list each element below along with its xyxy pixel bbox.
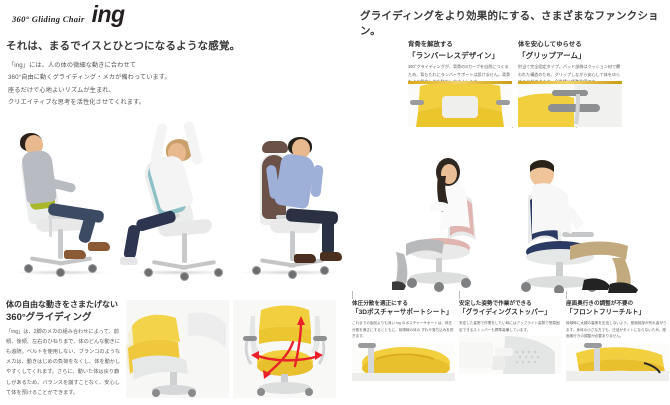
grip-arm-line2: 「グリップアーム」 xyxy=(518,50,622,61)
chair-caster xyxy=(252,266,261,275)
person-shoe xyxy=(120,257,138,265)
front-free-tilt-art xyxy=(566,343,669,381)
posture-seat-line2: 「3Dボスチャーサポートシート」 xyxy=(352,308,455,318)
hero-people-photo xyxy=(0,118,348,293)
function-lumbarless-design: 背骨を解放する 「ランバーレスデザイン」 360°グライディングが、背骨のSカー… xyxy=(408,40,512,86)
lumbarless-backrest-art xyxy=(408,84,512,127)
left-lead-headline: それは、まるでイスとひとつになるような感覚。 xyxy=(6,38,326,53)
catalog-page: 360° Gliding Chair ing それは、まるでイスとひとつになるよ… xyxy=(0,0,670,405)
gliding-stopper-body: 安定した姿勢で作業をしたい時にはアップライト姿勢で簡易固定できるストッパーも標準… xyxy=(459,320,562,333)
gliding-feature-line1: 体の自由な動きをさまたげない xyxy=(6,299,124,311)
gliding-photo-group xyxy=(126,300,336,398)
function-gliding-stopper: 安定した姿勢で作業ができる 「グライディングストッパー」 安定した姿勢で作業をし… xyxy=(459,300,562,381)
person-shoe xyxy=(88,242,110,251)
person-brown-chair xyxy=(236,113,348,281)
brand-prefix: 360° Gliding Chair xyxy=(12,14,85,24)
right-panel: グライディングをより効果的にする、さまざまなファンクション。 背骨を解放する 「… xyxy=(352,0,670,405)
man-navy-chair-art xyxy=(512,128,670,293)
brand-name: ing xyxy=(92,4,125,25)
bottom-function-row: 体圧分散を適正にする 「3Dボスチャーサポートシート」 これまでの製品よりも深い… xyxy=(352,300,670,381)
gliding-feature-body: 「ing」は、2脚のメカの組み合わせによって、前傾、後傾、左右のひねりまで、体の… xyxy=(6,327,124,398)
chair-caster xyxy=(214,268,223,277)
posture-support-seat-photo xyxy=(352,343,455,381)
left-panel: 360° Gliding Chair ing それは、まるでイスとひとつになるよ… xyxy=(0,0,348,405)
posture-seat-line1: 体圧分散を適正にする xyxy=(352,300,455,308)
left-intro-body: 「ing」には、人の体の微細な動きに合わせて 360°自由に動くグライディング・… xyxy=(8,60,238,110)
person-shin xyxy=(322,219,334,255)
chair-arm-post xyxy=(49,217,52,237)
chair-gas-post xyxy=(182,233,187,263)
brand-lockup: 360° Gliding Chair ing xyxy=(12,4,125,25)
posture-seat-art xyxy=(352,343,455,381)
grip-arm-line1: 体を安心してゆらせる xyxy=(518,40,622,50)
gliding-feature-line2: 360°グライディング xyxy=(6,311,124,324)
function-grip-arm: 体を安心してゆらせる 「グリップアーム」 肘当て完全固定タイプ。パッド部側はクッ… xyxy=(518,40,622,86)
chair-caster xyxy=(88,264,97,273)
right-section-heading: グライディングをより効果的にする、さまざまなファンクション。 xyxy=(360,8,666,38)
person-green-chair xyxy=(8,121,118,281)
front-free-tilt-line1: 座面奥行きの調整が不要の xyxy=(566,300,669,308)
gliding-direction-arrows-photo xyxy=(233,300,336,398)
front-free-tilt-photo xyxy=(566,343,669,381)
person-shoe xyxy=(294,254,316,263)
woman-seated-pink-chair-photo xyxy=(390,128,512,293)
woman-pink-chair-art xyxy=(390,128,512,293)
chair-caster xyxy=(56,268,65,277)
gliding-motion-sequence-photo xyxy=(126,300,229,398)
lumbarless-line1: 背骨を解放する xyxy=(408,40,512,50)
front-free-tilt-body: 後傾時に太腿の裏側を圧迫しないよう、座面前部が折れ曲がります。身体の小さな方でも… xyxy=(566,320,669,339)
chair-gas-post xyxy=(58,229,63,259)
gliding-stopper-line2: 「グライディングストッパー」 xyxy=(459,308,562,318)
chair-caster xyxy=(180,272,189,281)
front-free-tilt-line2: 「フロントフリーチルト」 xyxy=(566,308,669,318)
lumbarless-line2: 「ランバーレスデザイン」 xyxy=(408,50,512,61)
lumbarless-backrest-detail-photo xyxy=(408,84,512,127)
chair-headrest xyxy=(262,141,288,153)
function-3d-posture-support-seat: 体圧分散を適正にする 「3Dボスチャーサポートシート」 これまでの製品よりも深い… xyxy=(352,300,455,381)
grip-arm-detail-photo xyxy=(518,84,622,127)
gliding-stopper-tick xyxy=(459,291,460,299)
chair-caster xyxy=(288,270,297,279)
posture-seat-body: これまでの製品よりも深い ing のポスチャーサポートは、体圧分散を適正にすると… xyxy=(352,320,455,339)
person-shoe xyxy=(64,250,86,259)
chair-caster xyxy=(320,266,329,275)
person-teal-chair xyxy=(118,109,238,281)
chair-caster xyxy=(144,268,153,277)
person-shoe xyxy=(320,252,342,261)
motion-sequence-illustration xyxy=(126,300,229,398)
gliding-stopper-art xyxy=(459,336,562,374)
gliding-feature-caption: 体の自由な動きをさまたげない 360°グライディング 「ing」は、2脚のメカの… xyxy=(6,299,124,398)
front-free-tilt-tick xyxy=(566,291,567,299)
gliding-stopper-line1: 安定した姿勢で作業ができる xyxy=(459,300,562,308)
man-seated-navy-chair-photo xyxy=(512,128,670,293)
chair-caster xyxy=(24,264,33,273)
grip-arm-art xyxy=(518,84,622,127)
direction-arrows-illustration xyxy=(233,300,336,398)
function-front-free-tilt: 座面奥行きの調整が不要の 「フロントフリーチルト」 後傾時に太腿の裏側を圧迫しな… xyxy=(566,300,669,381)
gliding-stopper-mechanism-photo xyxy=(459,336,562,374)
posture-seat-tick xyxy=(352,291,353,299)
